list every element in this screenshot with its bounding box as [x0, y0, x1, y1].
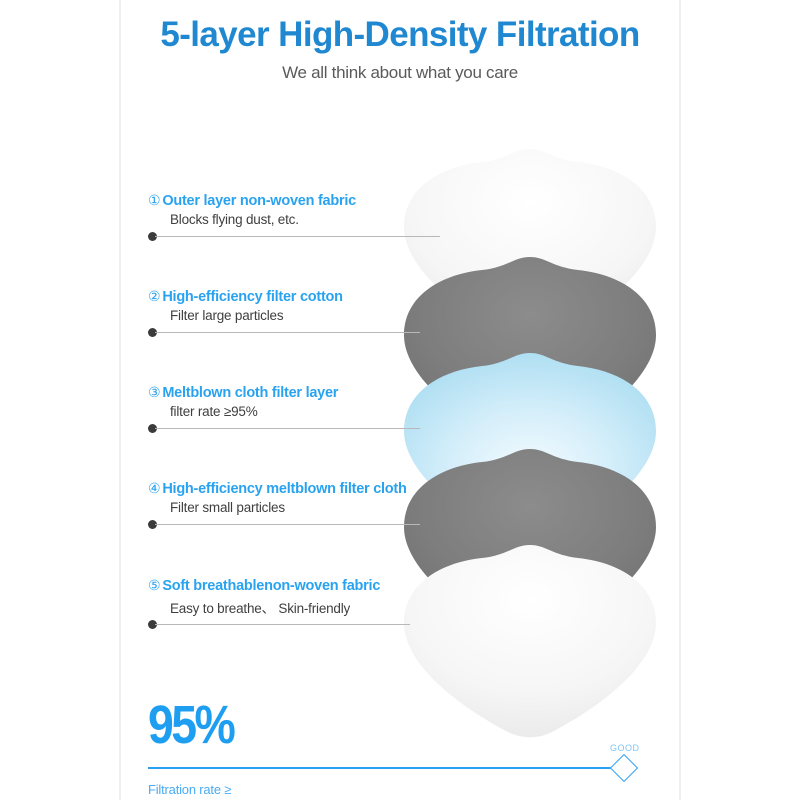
- callout-5-title-text: Soft breathablenon-woven fabric: [162, 578, 380, 594]
- callout-2-number: ②: [148, 288, 160, 304]
- callout-3-desc: filter rate ≥95%: [170, 404, 568, 419]
- diamond-marker-icon: [610, 754, 638, 782]
- callout-2: ②High-efficiency filter cotton Filter la…: [148, 288, 568, 323]
- callout-5-title: ⑤Soft breathablenon-woven fabric: [148, 577, 568, 594]
- callout-3: ③Meltblown cloth filter layer filter rat…: [148, 384, 568, 419]
- callout-1-title-text: Outer layer non-woven fabric: [162, 193, 356, 209]
- footer: 95% GOOD Filtration rate ≥: [148, 700, 668, 797]
- leader-stroke-3: [155, 428, 420, 429]
- callout-2-desc: Filter large particles: [170, 308, 568, 323]
- leader-line-2: [148, 327, 420, 337]
- callout-5: ⑤Soft breathablenon-woven fabric Easy to…: [148, 577, 568, 617]
- leader-stroke-5: [155, 624, 410, 625]
- leader-line-4: [148, 519, 420, 529]
- callout-2-title-text: High-efficiency filter cotton: [162, 289, 342, 305]
- callout-1-number: ①: [148, 192, 160, 208]
- callout-5-desc: Easy to breathe、 Skin-friendly: [170, 597, 568, 617]
- leader-line-3: [148, 423, 420, 433]
- leader-stroke-2: [155, 332, 420, 333]
- page-border-left: [119, 0, 121, 800]
- callout-1-desc: Blocks flying dust, etc.: [170, 212, 568, 227]
- page-title: 5-layer High-Density Filtration: [0, 14, 800, 56]
- callout-1: ①Outer layer non-woven fabric Blocks fly…: [148, 192, 568, 227]
- filtration-rate-bar: GOOD: [148, 757, 656, 779]
- page-border-right: [679, 0, 681, 800]
- leader-line-1: [148, 231, 440, 241]
- filtration-bar-track: [148, 767, 624, 769]
- filtration-rate-label: Filtration rate ≥: [148, 782, 668, 797]
- leader-line-5: [148, 619, 410, 629]
- infographic-page: 5-layer High-Density Filtration We all t…: [0, 0, 800, 800]
- callout-4: ④High-efficiency meltblown filter cloth …: [148, 480, 568, 515]
- callout-3-title: ③Meltblown cloth filter layer: [148, 384, 568, 401]
- leader-stroke-1: [155, 236, 440, 237]
- callout-2-title: ②High-efficiency filter cotton: [148, 288, 568, 305]
- callout-3-number: ③: [148, 384, 160, 400]
- page-subtitle: We all think about what you care: [0, 63, 800, 83]
- callout-4-title-text: High-efficiency meltblown filter cloth: [162, 481, 406, 497]
- header: 5-layer High-Density Filtration We all t…: [0, 14, 800, 83]
- callout-4-desc: Filter small particles: [170, 500, 568, 515]
- filtration-rate-value: 95%: [148, 700, 595, 751]
- leader-stroke-4: [155, 524, 420, 525]
- filtration-bar-marker-label: GOOD: [610, 743, 640, 753]
- callout-4-title: ④High-efficiency meltblown filter cloth: [148, 480, 568, 497]
- callout-3-title-text: Meltblown cloth filter layer: [162, 385, 338, 401]
- callout-4-number: ④: [148, 480, 160, 496]
- callout-5-number: ⑤: [148, 577, 160, 593]
- callout-1-title: ①Outer layer non-woven fabric: [148, 192, 568, 209]
